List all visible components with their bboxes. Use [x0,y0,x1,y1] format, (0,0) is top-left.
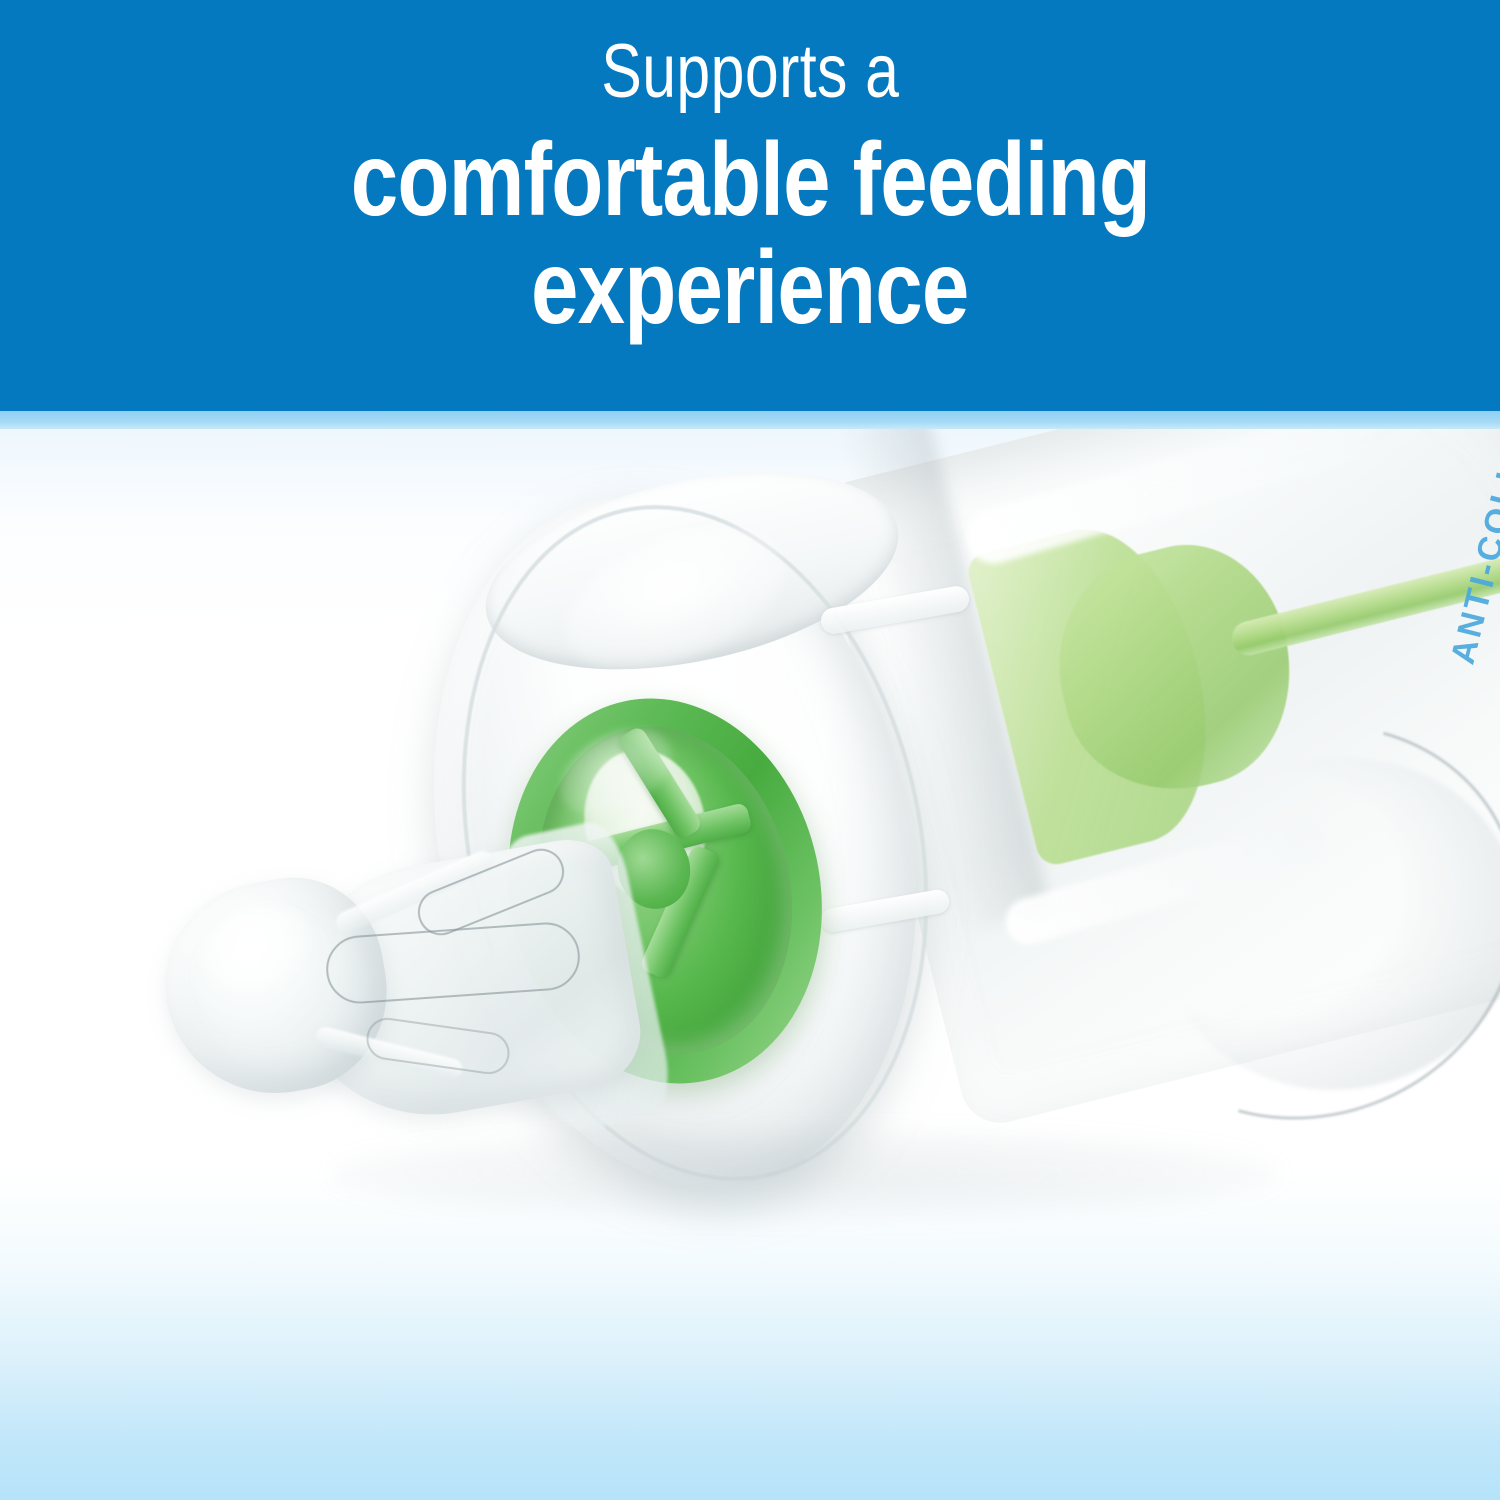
header-headline-line2: experience [531,232,968,344]
baby-bottle-illustration: ANTI-COLIC [0,429,1500,1229]
header-divider-band [0,411,1500,429]
product-feature-card: Supports a comfortable feeding experienc… [0,0,1500,1500]
header-banner: Supports a comfortable feeding experienc… [0,0,1500,411]
product-contact-shadow [330,1129,1280,1219]
header-eyebrow: Supports a [601,34,899,110]
product-image-stage: ANTI-COLIC [0,429,1500,1500]
header-headline-line1: comfortable feeding [350,124,1149,236]
